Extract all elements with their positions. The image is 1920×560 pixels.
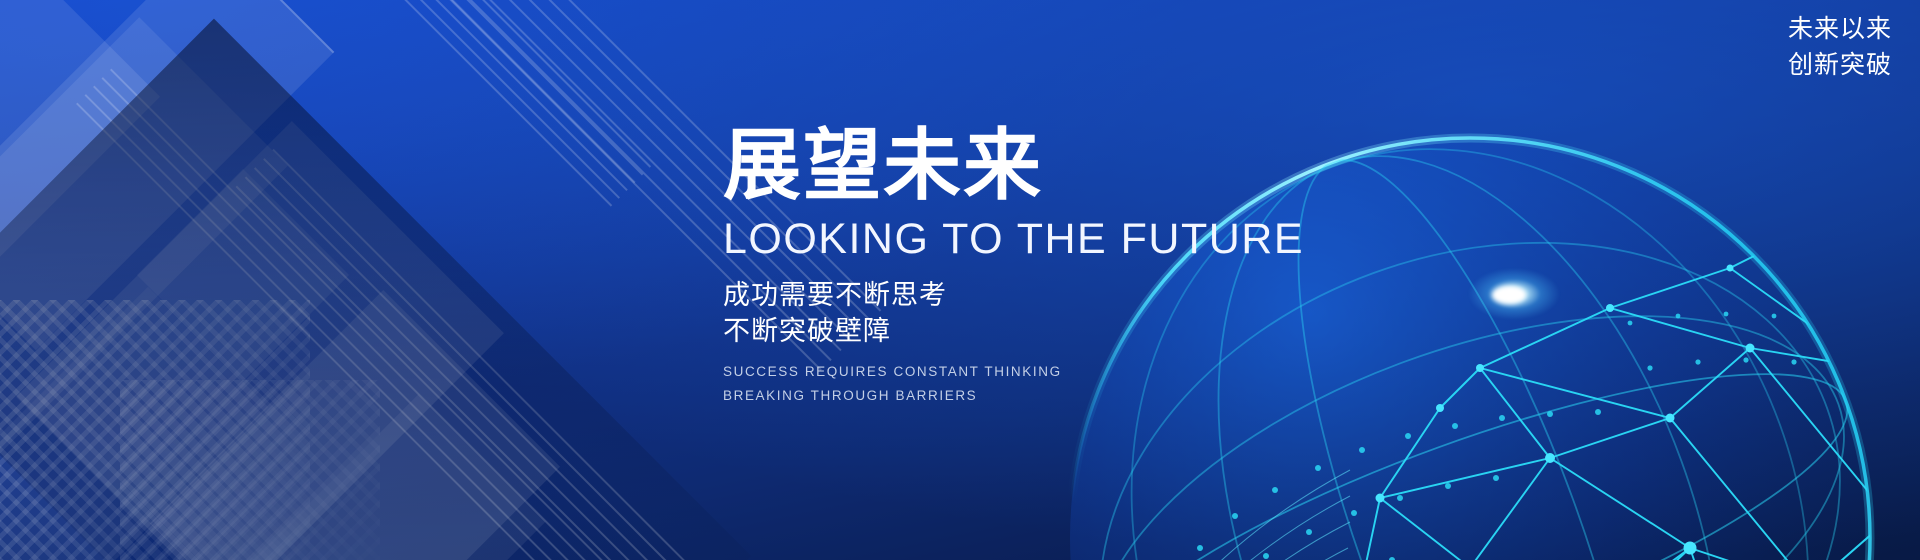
- page-title-en: LOOKING TO THE FUTURE: [723, 218, 1443, 261]
- deco-rect-2: [0, 17, 288, 462]
- deco-rect-7: [0, 287, 268, 560]
- subtitle-cn-line-1: 成功需要不断思考: [723, 277, 1443, 313]
- deco-rect-3: [0, 0, 334, 350]
- deco-rect-1: [0, 0, 160, 330]
- subtitle-cn-line-2: 不断突破壁障: [723, 313, 1443, 349]
- deco-rect-5: [137, 169, 349, 381]
- subtitle-cn: 成功需要不断思考 不断突破壁障: [723, 277, 1443, 350]
- deco-rect-6: [150, 290, 560, 560]
- deco-stripes-top: [29, 0, 651, 251]
- deco-stripes-low: [34, 69, 607, 560]
- headline-block: 展望未来 LOOKING TO THE FUTURE 成功需要不断思考 不断突破…: [723, 126, 1443, 407]
- banner: 展望未来 LOOKING TO THE FUTURE 成功需要不断思考 不断突破…: [0, 0, 1920, 560]
- corner-tagline-line-1: 未来以来: [1788, 12, 1892, 48]
- deco-dark-wash: [0, 19, 751, 560]
- subtitle-en-line-2: BREAKING THROUGH BARRIERS: [723, 384, 1443, 408]
- deco-stripes-bottom: [189, 149, 811, 560]
- corner-tagline: 未来以来 创新突破: [1788, 12, 1892, 83]
- deco-dot-grid-2: [120, 380, 380, 560]
- subtitle-en: SUCCESS REQUIRES CONSTANT THINKING BREAK…: [723, 360, 1443, 407]
- subtitle-en-line-1: SUCCESS REQUIRES CONSTANT THINKING: [723, 360, 1443, 384]
- deco-rect-4: [16, 121, 504, 560]
- corner-tagline-line-2: 创新突破: [1788, 48, 1892, 84]
- deco-rect-8: [234, 394, 545, 560]
- deco-dot-grid: [0, 300, 310, 560]
- page-title-cn: 展望未来: [723, 126, 1443, 204]
- globe-light-flare-core: [1492, 286, 1526, 304]
